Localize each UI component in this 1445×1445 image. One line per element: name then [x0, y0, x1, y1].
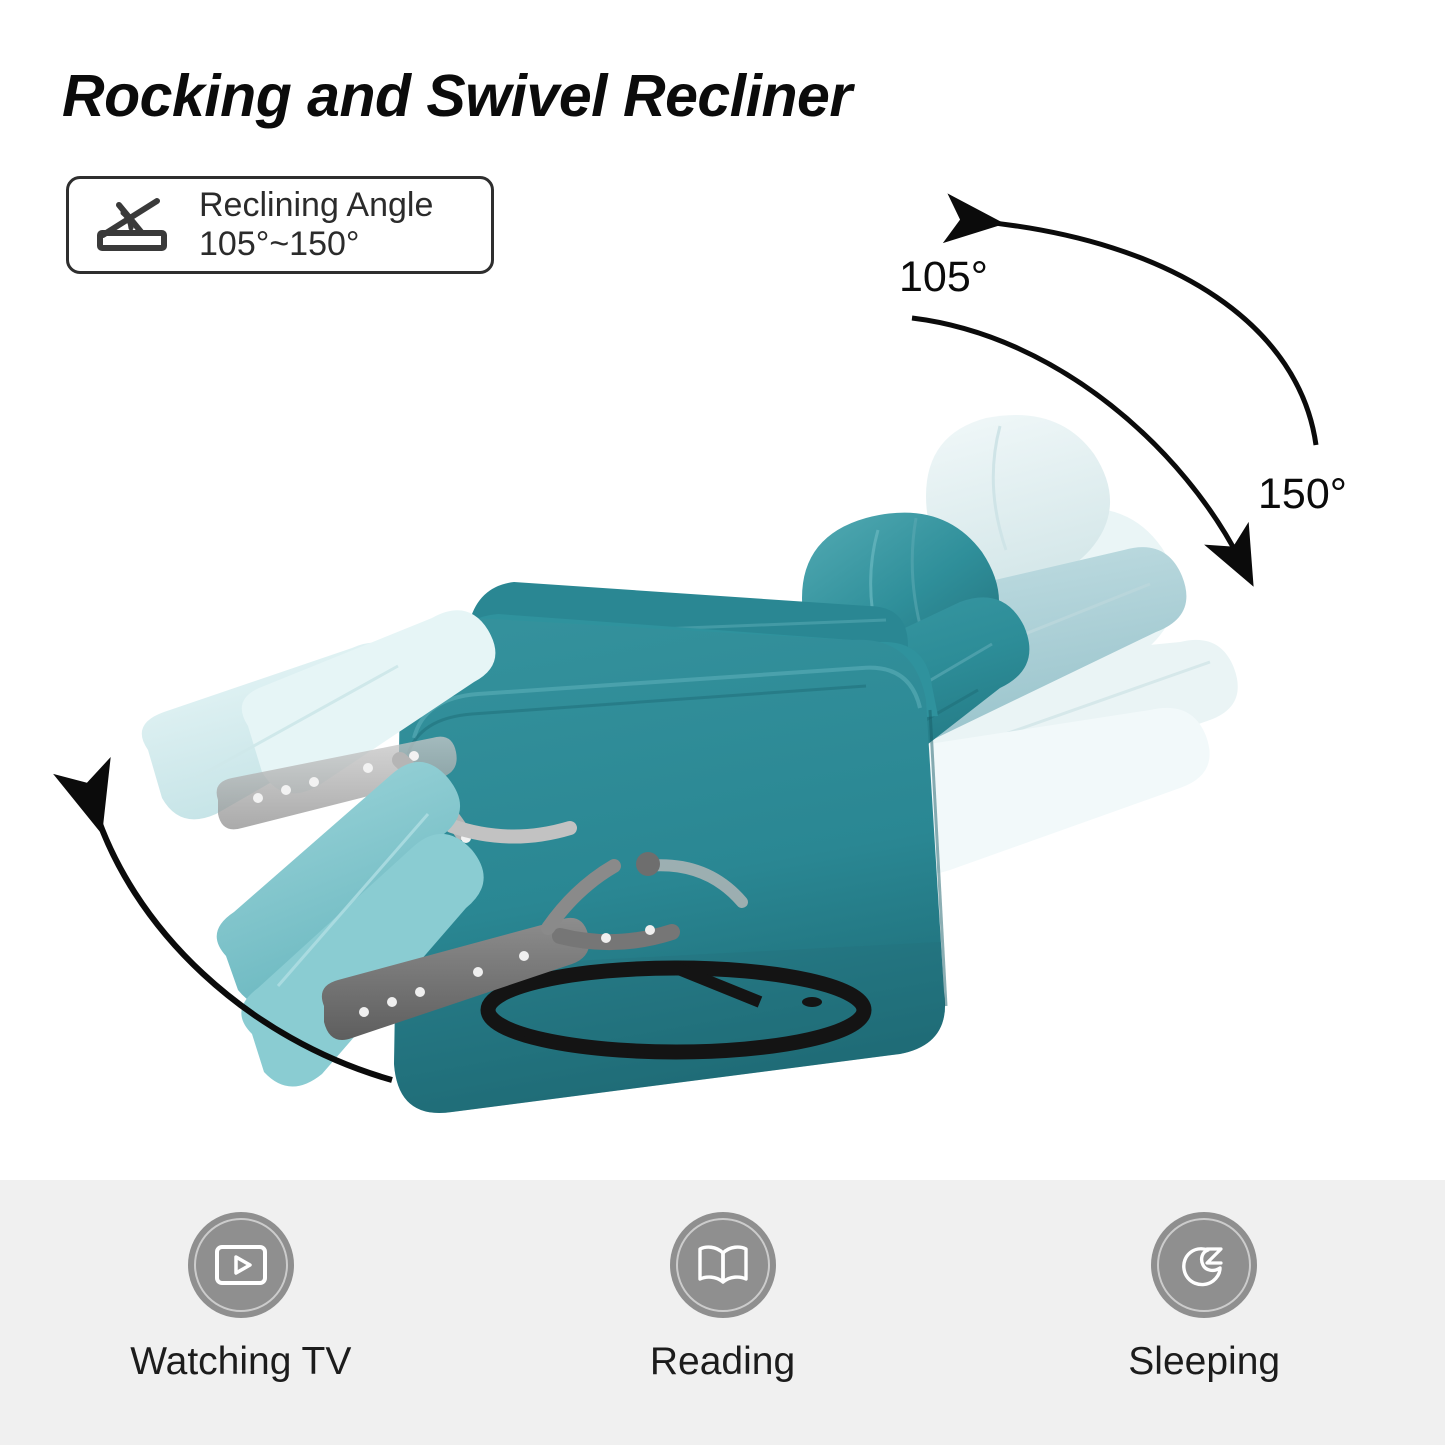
infographic-root: Rocking and Swivel Recliner Reclining An…: [0, 0, 1445, 1445]
product-image: [0, 150, 1445, 1180]
feature-item-reading: Reading: [482, 1180, 964, 1445]
feature-item-watching-tv: Watching TV: [0, 1180, 482, 1445]
feature-item-sleeping: Sleeping: [963, 1180, 1445, 1445]
feature-label-watching-tv: Watching TV: [130, 1340, 351, 1384]
moon-z-icon: [1151, 1212, 1257, 1318]
feature-label-sleeping: Sleeping: [1128, 1340, 1280, 1384]
feature-panel: Watching TV Reading Sleeping: [0, 1180, 1445, 1445]
tv-play-icon: [188, 1212, 294, 1318]
feature-label-reading: Reading: [650, 1340, 795, 1384]
recliner-illustration: [0, 150, 1445, 1180]
open-book-icon: [670, 1212, 776, 1318]
page-title: Rocking and Swivel Recliner: [62, 62, 852, 130]
